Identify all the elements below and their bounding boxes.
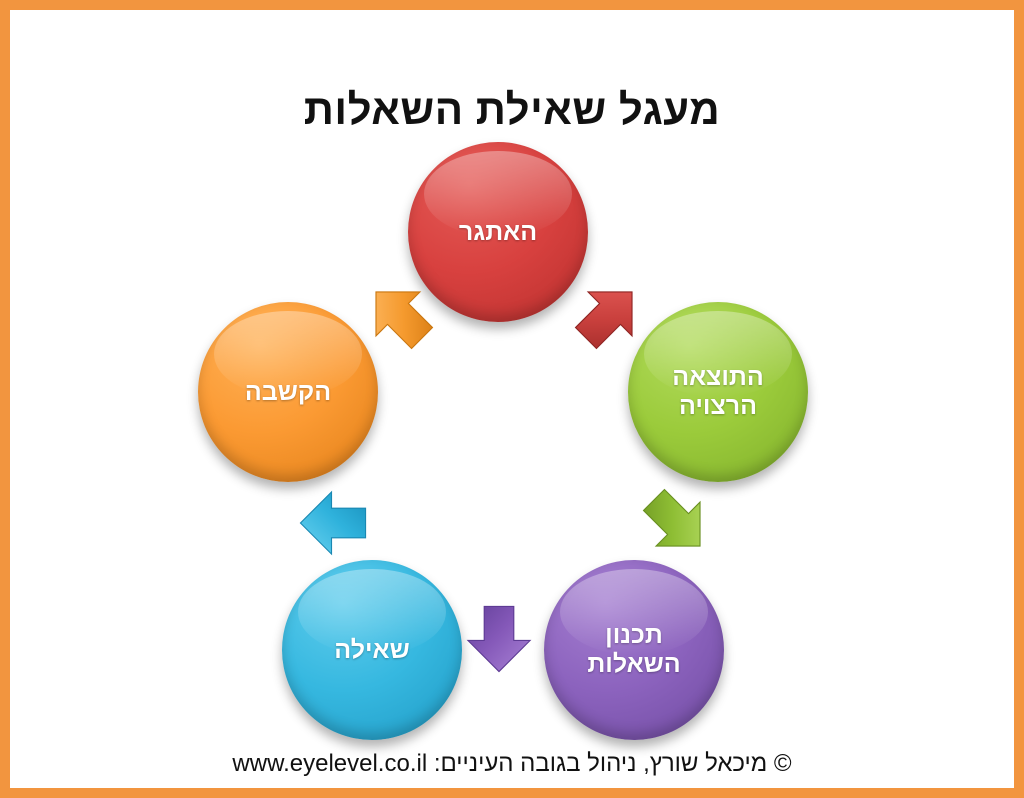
cycle-node-asking[interactable]: שאילה <box>282 560 462 740</box>
cycle-node-result[interactable]: התוצאההרצויה <box>628 302 808 482</box>
cycle-node-planning[interactable]: תכנוןהשאלות <box>544 560 724 740</box>
cycle-node-asking-label: שאילה <box>324 636 419 665</box>
cycle-node-challenge[interactable]: האתגר <box>408 142 588 322</box>
slide-canvas: מעגל שאילת השאלות האתגר התוצאההרצויה תכנ… <box>0 0 1024 798</box>
footer-url[interactable]: www.eyelevel.co.il <box>232 750 427 777</box>
cycle-node-challenge-label: האתגר <box>449 218 547 247</box>
arrow-icon-planning-to-asking <box>462 602 536 676</box>
footer-credit: © מיכאל שורץ, ניהול בגובה העיניים: www.e… <box>10 750 1014 778</box>
cycle-node-result-label: התוצאההרצויה <box>662 363 774 421</box>
question-cycle-diagram: האתגר התוצאההרצויה תכנוןהשאלות שאילה הקש… <box>10 10 1014 788</box>
arrow-icon-asking-to-listening <box>296 486 370 560</box>
cycle-node-listening[interactable]: הקשבה <box>198 302 378 482</box>
footer-credit-text: © מיכאל שורץ, ניהול בגובה העיניים: <box>434 750 792 777</box>
cycle-node-planning-label: תכנוןהשאלות <box>577 621 690 679</box>
cycle-node-listening-label: הקשבה <box>235 378 341 407</box>
